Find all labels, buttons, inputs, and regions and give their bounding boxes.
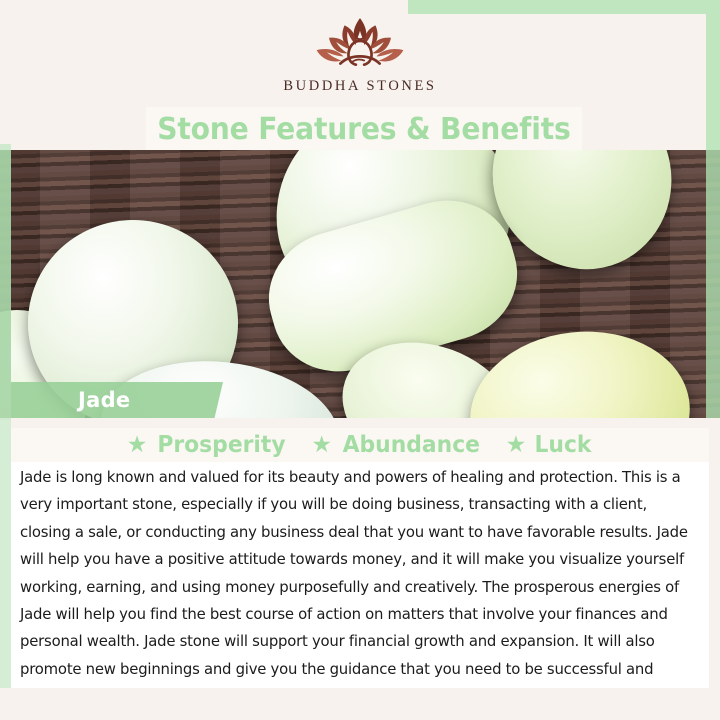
description-text: Jade is long known and valued for its be… bbox=[20, 464, 689, 711]
description-card: Jade is long known and valued for its be… bbox=[11, 462, 709, 688]
benefit-item-abundance: ★ Abundance bbox=[311, 432, 483, 458]
accent-bar-top-right bbox=[408, 0, 720, 14]
stone-info-poster: BUDDHA STONES Stone Features & Benefits … bbox=[0, 0, 720, 720]
benefit-label: Abundance bbox=[343, 432, 480, 458]
star-icon: ★ bbox=[311, 433, 332, 456]
title-banner: Stone Features & Benefits bbox=[146, 107, 582, 152]
benefits-row: ★ Prosperity ★ Abundance ★ Luck bbox=[11, 428, 709, 462]
stone-name-label: Jade bbox=[78, 388, 130, 412]
star-icon: ★ bbox=[127, 433, 148, 456]
benefit-label: Luck bbox=[535, 432, 592, 458]
stone-name-banner: Jade bbox=[11, 382, 223, 418]
benefit-label: Prosperity bbox=[158, 432, 286, 458]
star-icon: ★ bbox=[506, 433, 527, 456]
stone-photo bbox=[0, 150, 720, 418]
accent-bar-left-lower bbox=[0, 420, 11, 688]
lotus-meditation-icon bbox=[308, 14, 412, 76]
accent-bar-photo-left bbox=[0, 150, 11, 418]
benefit-item-luck: ★ Luck bbox=[506, 432, 594, 458]
brand-logo: BUDDHA STONES bbox=[0, 14, 720, 106]
benefit-item-prosperity: ★ Prosperity bbox=[127, 432, 290, 458]
brand-name: BUDDHA STONES bbox=[283, 78, 436, 95]
accent-bar-photo-right bbox=[706, 150, 720, 418]
footer-strip bbox=[0, 688, 720, 720]
page-title: Stone Features & Benefits bbox=[157, 112, 570, 147]
